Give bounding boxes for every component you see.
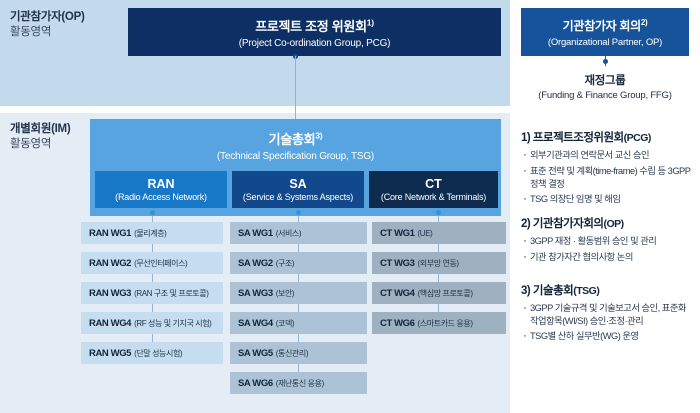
note-title-tsg: 3) 기술총회(TSG) xyxy=(521,282,696,298)
wg-code: RAN WG3 xyxy=(89,288,131,299)
tsg-panel: 기술총회3) (Technical Specification Group, T… xyxy=(90,119,501,216)
wg-item[interactable]: SA WG3(보안) xyxy=(230,282,367,304)
note-block-pcg: 1) 프로젝트조정위원회(PCG) 외부기관과의 연락문서 교신 승인 표준 전… xyxy=(521,129,696,206)
wg-code: RAN WG4 xyxy=(89,318,131,329)
wg-code: RAN WG5 xyxy=(89,348,131,359)
tsg-title-en: (Technical Specification Group, TSG) xyxy=(217,151,374,162)
wg-code: SA WG4 xyxy=(238,318,273,329)
note-item: TSG별 산하 실무반(WG) 운영 xyxy=(521,330,696,343)
pcg-title-kr: 프로젝트 조정 위원회1) xyxy=(255,16,374,35)
op-band-label: 기관참가자(OP) 활동영역 xyxy=(10,10,120,40)
note-item: 표준 전략 및 계획(time-frame) 수립 등 3GPP 정책 결정 xyxy=(521,165,696,191)
wg-desc: (구조) xyxy=(276,258,294,269)
tsg-group-sa-kr: SA xyxy=(289,177,306,191)
op-title-en: (Organizational Partner, OP) xyxy=(548,37,662,48)
wg-desc: (UE) xyxy=(418,229,433,238)
note-item: 외부기관과의 연락문서 교신 승인 xyxy=(521,149,696,162)
wg-desc: (핵심망 프로토콜) xyxy=(418,288,473,299)
note-title-op: 2) 기관참가자회의(OP) xyxy=(521,215,696,231)
op-meeting-box[interactable]: 기관참가자 회의2) (Organizational Partner, OP) xyxy=(521,8,689,56)
tsg-header[interactable]: 기술총회3) (Technical Specification Group, T… xyxy=(90,119,501,171)
tsg-group-sa[interactable]: SA (Service & Systems Aspects) xyxy=(232,171,364,208)
op-footnote-marker: 2) xyxy=(641,18,647,27)
wg-code: CT WG6 xyxy=(380,318,415,329)
note-abbr: (OP) xyxy=(603,218,623,230)
tsg-group-ran[interactable]: RAN (Radio Access Network) xyxy=(95,171,227,208)
wg-code: SA WG3 xyxy=(238,288,273,299)
wg-desc: (물리계층) xyxy=(134,228,166,239)
wg-code: SA WG5 xyxy=(238,348,273,359)
wg-item[interactable]: RAN WG1(물리계층) xyxy=(81,222,223,244)
tsg-group-sa-en: (Service & Systems Aspects) xyxy=(243,192,353,202)
wg-code: SA WG2 xyxy=(238,258,273,269)
note-item: TSG 의장단 임명 및 해임 xyxy=(521,193,696,206)
wg-desc: (RAN 구조 및 프로토콜) xyxy=(134,288,208,299)
wg-item[interactable]: SA WG2(구조) xyxy=(230,252,367,274)
org-chart-diagram: 기관참가자(OP) 활동영역 개별회원(IM) 활동영역 프로젝트 조정 위원회… xyxy=(0,0,700,413)
wg-column-ran: RAN WG1(물리계층) RAN WG2(무선인터페이스) RAN WG3(R… xyxy=(81,222,223,372)
op-band-label-line2: 활동영역 xyxy=(10,25,120,40)
wg-code: SA WG6 xyxy=(238,378,273,389)
connector-dot-op-ffg xyxy=(603,59,608,64)
wg-item[interactable]: RAN WG3(RAN 구조 및 프로토콜) xyxy=(81,282,223,304)
ffg-title-kr: 재정그룹 xyxy=(584,72,625,88)
pcg-box[interactable]: 프로젝트 조정 위원회1) (Project Co-ordination Gro… xyxy=(128,8,501,56)
wg-desc: (서비스) xyxy=(276,228,301,239)
wg-desc: (단말 성능시험) xyxy=(134,348,182,359)
wg-code: CT WG4 xyxy=(380,288,415,299)
note-title-pcg: 1) 프로젝트조정위원회(PCG) xyxy=(521,129,696,145)
note-block-tsg: 3) 기술총회(TSG) 3GPP 기술규격 및 기술보고서 승인, 표준화 작… xyxy=(521,282,696,344)
connector-dot-ct xyxy=(436,210,441,215)
wg-item[interactable]: SA WG1(서비스) xyxy=(230,222,367,244)
tsg-group-ct-kr: CT xyxy=(425,177,442,191)
tsg-group-ran-kr: RAN xyxy=(147,177,174,191)
wg-desc: (재난통신 응용) xyxy=(276,378,324,389)
tsg-footnote-marker: 3) xyxy=(315,130,322,140)
pcg-title-en: (Project Co-ordination Group, PCG) xyxy=(239,38,391,49)
wg-column-ct: CT WG1(UE) CT WG3(외부망 연동) CT WG4(핵심망 프로토… xyxy=(372,222,506,342)
connector-dot-ran xyxy=(150,210,155,215)
wg-item[interactable]: CT WG1(UE) xyxy=(372,222,506,244)
wg-desc: (무선인터페이스) xyxy=(134,258,187,269)
note-item: 기관 참가자간 협의사항 논의 xyxy=(521,251,696,264)
tsg-group-ct[interactable]: CT (Core Network & Terminals) xyxy=(369,171,498,208)
wg-item[interactable]: CT WG4(핵심망 프로토콜) xyxy=(372,282,506,304)
legend-notes-panel: 1) 프로젝트조정위원회(PCG) 외부기관과의 연락문서 교신 승인 표준 전… xyxy=(513,113,700,413)
tsg-title-kr: 기술총회3) xyxy=(269,129,323,148)
note-abbr: (TSG) xyxy=(573,285,599,297)
op-band-label-line1: 기관참가자(OP) xyxy=(10,10,120,25)
wg-column-sa: SA WG1(서비스) SA WG2(구조) SA WG3(보안) SA WG4… xyxy=(230,222,367,402)
wg-item[interactable]: RAN WG2(무선인터페이스) xyxy=(81,252,223,274)
tsg-group-ran-en: (Radio Access Network) xyxy=(115,192,207,202)
ffg-box[interactable]: 재정그룹 (Funding & Finance Group, FFG) xyxy=(521,66,689,106)
wg-item[interactable]: CT WG6(스마트카드 응용) xyxy=(372,312,506,334)
wg-desc: (RF 성능 및 기지국 시험) xyxy=(134,318,211,329)
wg-item[interactable]: RAN WG5(단말 성능시험) xyxy=(81,342,223,364)
op-title-kr: 기관참가자 회의2) xyxy=(563,17,648,34)
note-item: 3GPP 기술규격 및 기술보고서 승인, 표준화 작업항목(WI/SI) 승인… xyxy=(521,302,696,328)
connector-pcg-to-tsg xyxy=(295,56,296,119)
wg-desc: (외부망 연동) xyxy=(418,258,459,269)
tsg-group-ct-en: (Core Network & Terminals) xyxy=(381,192,486,202)
wg-code: RAN WG2 xyxy=(89,258,131,269)
wg-code: SA WG1 xyxy=(238,228,273,239)
wg-item[interactable]: SA WG5(통신관리) xyxy=(230,342,367,364)
note-block-op: 2) 기관참가자회의(OP) 3GPP 재정 · 활동범위 승인 및 관리 기관… xyxy=(521,215,696,264)
wg-code: CT WG3 xyxy=(380,258,415,269)
wg-desc: (통신관리) xyxy=(276,348,308,359)
note-item: 3GPP 재정 · 활동범위 승인 및 관리 xyxy=(521,235,696,248)
band-divider xyxy=(0,106,510,113)
wg-item[interactable]: SA WG4(코덱) xyxy=(230,312,367,334)
wg-desc: (스마트카드 응용) xyxy=(418,318,473,329)
pcg-footnote-marker: 1) xyxy=(367,17,374,27)
wg-code: CT WG1 xyxy=(380,228,415,239)
wg-desc: (보안) xyxy=(276,288,294,299)
wg-item[interactable]: RAN WG4(RF 성능 및 기지국 시험) xyxy=(81,312,223,334)
note-abbr: (PCG) xyxy=(624,132,651,144)
wg-code: RAN WG1 xyxy=(89,228,131,239)
wg-desc: (코덱) xyxy=(276,318,294,329)
ffg-title-en: (Funding & Finance Group, FFG) xyxy=(538,90,671,101)
wg-item[interactable]: SA WG6(재난통신 응용) xyxy=(230,372,367,394)
connector-dot-sa xyxy=(296,210,301,215)
wg-item[interactable]: CT WG3(외부망 연동) xyxy=(372,252,506,274)
